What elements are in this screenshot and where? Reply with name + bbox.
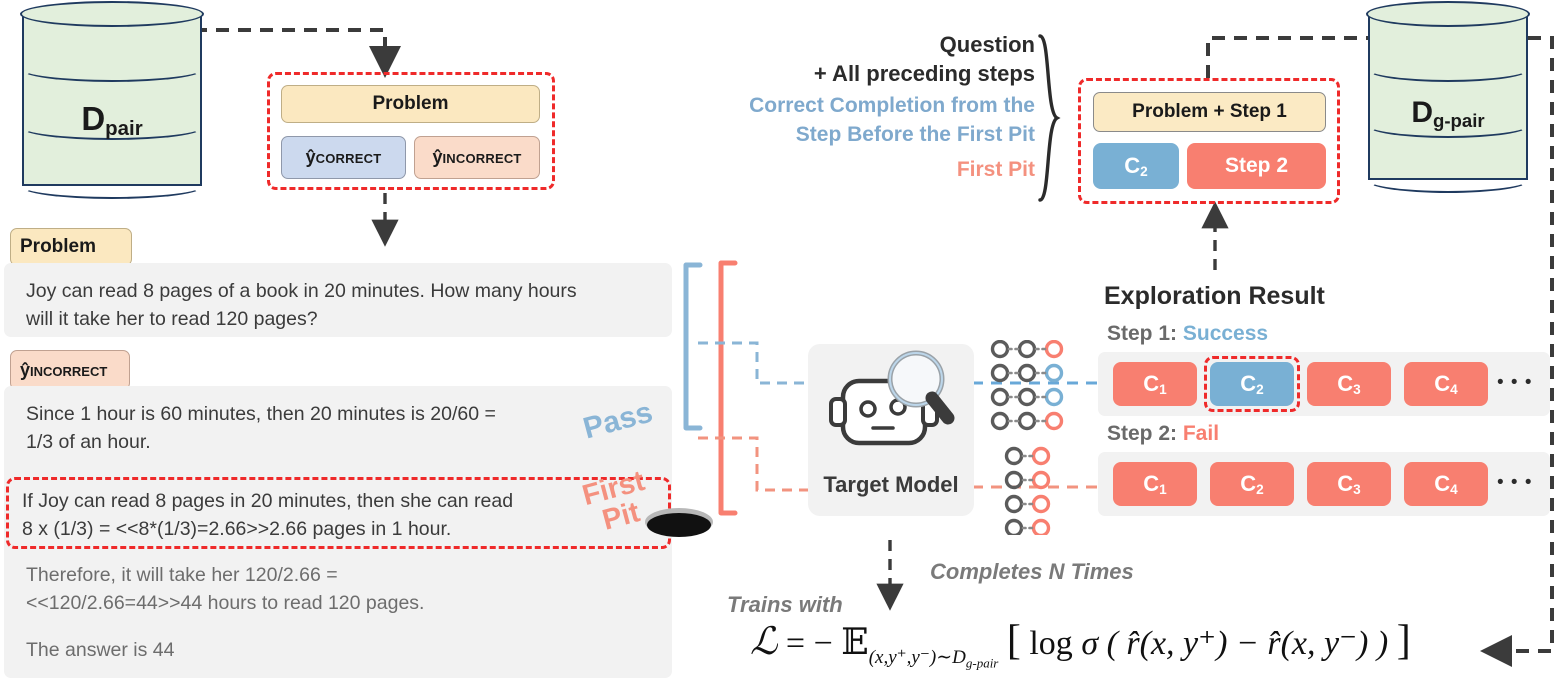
- exploration-row-2-chip-1[interactable]: C1: [1113, 462, 1197, 506]
- pair-card-problem-label: Problem: [372, 93, 448, 115]
- magnifier-icon: [880, 346, 958, 432]
- pair-card-problem-chip[interactable]: Problem: [281, 85, 540, 123]
- cylinder-ring-1: [20, 56, 204, 82]
- exploration-row-2-chip-3[interactable]: C3: [1307, 462, 1391, 506]
- cylinder-bottom: [20, 173, 204, 199]
- exploration-row-1-prefix: Step 1:: [1107, 322, 1177, 345]
- exploration-row-2-prefix: Step 2:: [1107, 422, 1177, 445]
- bracket-pass: [686, 265, 700, 428]
- incorrect-step-1: Since 1 hour is 60 minutes, then 20 minu…: [26, 400, 496, 457]
- chip-label: C1: [1143, 471, 1166, 497]
- incorrect-step-2: If Joy can read 8 pages in 20 minutes, t…: [22, 487, 513, 544]
- exploration-row-2-chip-2[interactable]: C2: [1210, 462, 1294, 506]
- loss-inner: ( r̂(x, y⁺) − r̂(x, y⁻) ): [1107, 625, 1389, 662]
- exploration-row-1-ellipsis: • • •: [1497, 372, 1533, 394]
- problem-tag: Problem: [10, 228, 132, 266]
- cylinder-top: [20, 1, 204, 27]
- exploration-row-1-status: Success: [1183, 322, 1268, 345]
- chip-label: C3: [1337, 471, 1360, 497]
- chip-label: C4: [1434, 371, 1457, 397]
- problem-text: Joy can read 8 pages of a book in 20 min…: [26, 277, 577, 334]
- problem-tag-label: Problem: [20, 236, 96, 258]
- loss-sigma: σ: [1081, 625, 1098, 662]
- loss-neg: −: [814, 625, 833, 662]
- completes-n-times-note: Completes N Times: [930, 559, 1134, 585]
- loss-open-bracket: [: [1007, 618, 1021, 664]
- incorrect-step-4: The answer is 44: [26, 636, 175, 664]
- gpair-step2-label: Step 2: [1225, 154, 1288, 178]
- exploration-row-2-status: Fail: [1183, 422, 1219, 445]
- pair-card-correct-label: ŷCORRECT: [306, 147, 382, 168]
- gpair-problem-step-chip[interactable]: Problem + Step 1: [1093, 92, 1326, 132]
- loss-close-bracket: ]: [1397, 618, 1411, 664]
- exploration-row-2-ellipsis: • • •: [1497, 472, 1533, 494]
- loss-eq: =: [786, 625, 805, 662]
- gpair-c2-label: C2: [1124, 153, 1147, 179]
- legend-line-first-pit: First Pit: [690, 158, 1035, 182]
- legend-line-question: Question: [690, 30, 1035, 59]
- gpair-c2-chip[interactable]: C2: [1093, 143, 1179, 189]
- legend-line-preceding-steps: + All preceding steps: [690, 59, 1035, 88]
- legend-brace: [1036, 34, 1062, 202]
- rollout-dots: [986, 340, 1101, 535]
- loss-expectation: 𝔼: [841, 622, 868, 662]
- problem-text-box: Joy can read 8 pages of a book in 20 min…: [4, 263, 672, 337]
- target-model-label: Target Model: [808, 472, 974, 498]
- legend-question-block: Question + All preceding steps Correct C…: [690, 30, 1035, 182]
- pit-hole-icon: [643, 500, 715, 544]
- incorrect-step-3: Therefore, it will take her 120/2.66 = <…: [26, 561, 424, 618]
- exploration-title: Exploration Result: [1104, 282, 1325, 311]
- chip-label: C3: [1337, 371, 1360, 397]
- route-firstpit-to-model: [698, 438, 815, 490]
- cylinder-label: Dpair: [22, 100, 202, 138]
- loss-log: log: [1029, 625, 1072, 662]
- loss-symbol: ℒ: [750, 621, 777, 663]
- bracket-firstpit: [721, 263, 735, 513]
- dataset-cylinder-dgpair: Dg-pair: [1368, 14, 1528, 180]
- legend-line-correct-completion-b: Step Before the First Pit: [690, 121, 1035, 150]
- pair-card-incorrect-label: ŷINCORRECT: [432, 147, 521, 168]
- cylinder-label: Dg-pair: [1368, 96, 1528, 130]
- exploration-row-2-heading: Step 2: Fail: [1107, 422, 1219, 446]
- chip-label: C1: [1143, 371, 1166, 397]
- gpair-problem-step-label: Problem + Step 1: [1132, 101, 1287, 123]
- exploration-row-1-chip-2-highlight: [1204, 356, 1300, 412]
- pair-card-incorrect-chip[interactable]: ŷINCORRECT: [414, 136, 540, 179]
- chip-label: C4: [1434, 471, 1457, 497]
- trains-with-note: Trains with: [727, 592, 843, 618]
- dataset-cylinder-dpair: Dpair: [22, 14, 202, 186]
- exploration-row-1-chip-4[interactable]: C4: [1404, 362, 1488, 406]
- exploration-row-1-chip-1[interactable]: C1: [1113, 362, 1197, 406]
- exploration-row-2-chip-4[interactable]: C4: [1404, 462, 1488, 506]
- incorrect-tag-label: ŷINCORRECT: [20, 360, 107, 381]
- cylinder-bottom: [1366, 167, 1530, 193]
- route-pass-to-model: [698, 343, 815, 383]
- legend-line-correct-completion-a: Correct Completion from the: [690, 92, 1035, 121]
- pair-card-correct-chip[interactable]: ŷCORRECT: [281, 136, 406, 179]
- chip-label: C2: [1240, 471, 1263, 497]
- cylinder-top: [1366, 1, 1530, 27]
- exploration-row-1-chip-3[interactable]: C3: [1307, 362, 1391, 406]
- loss-formula: ℒ = − 𝔼(x,y⁺,y⁻)∼Dg-pair [ log σ ( r̂(x,…: [750, 617, 1411, 671]
- gpair-step2-chip[interactable]: Step 2: [1187, 143, 1326, 189]
- cylinder-ring-1: [1366, 56, 1530, 82]
- exploration-row-1-heading: Step 1: Success: [1107, 322, 1268, 346]
- incorrect-tag: ŷINCORRECT: [10, 350, 130, 390]
- loss-expectation-subscript: (x,y⁺,y⁻)∼Dg-pair: [869, 647, 999, 668]
